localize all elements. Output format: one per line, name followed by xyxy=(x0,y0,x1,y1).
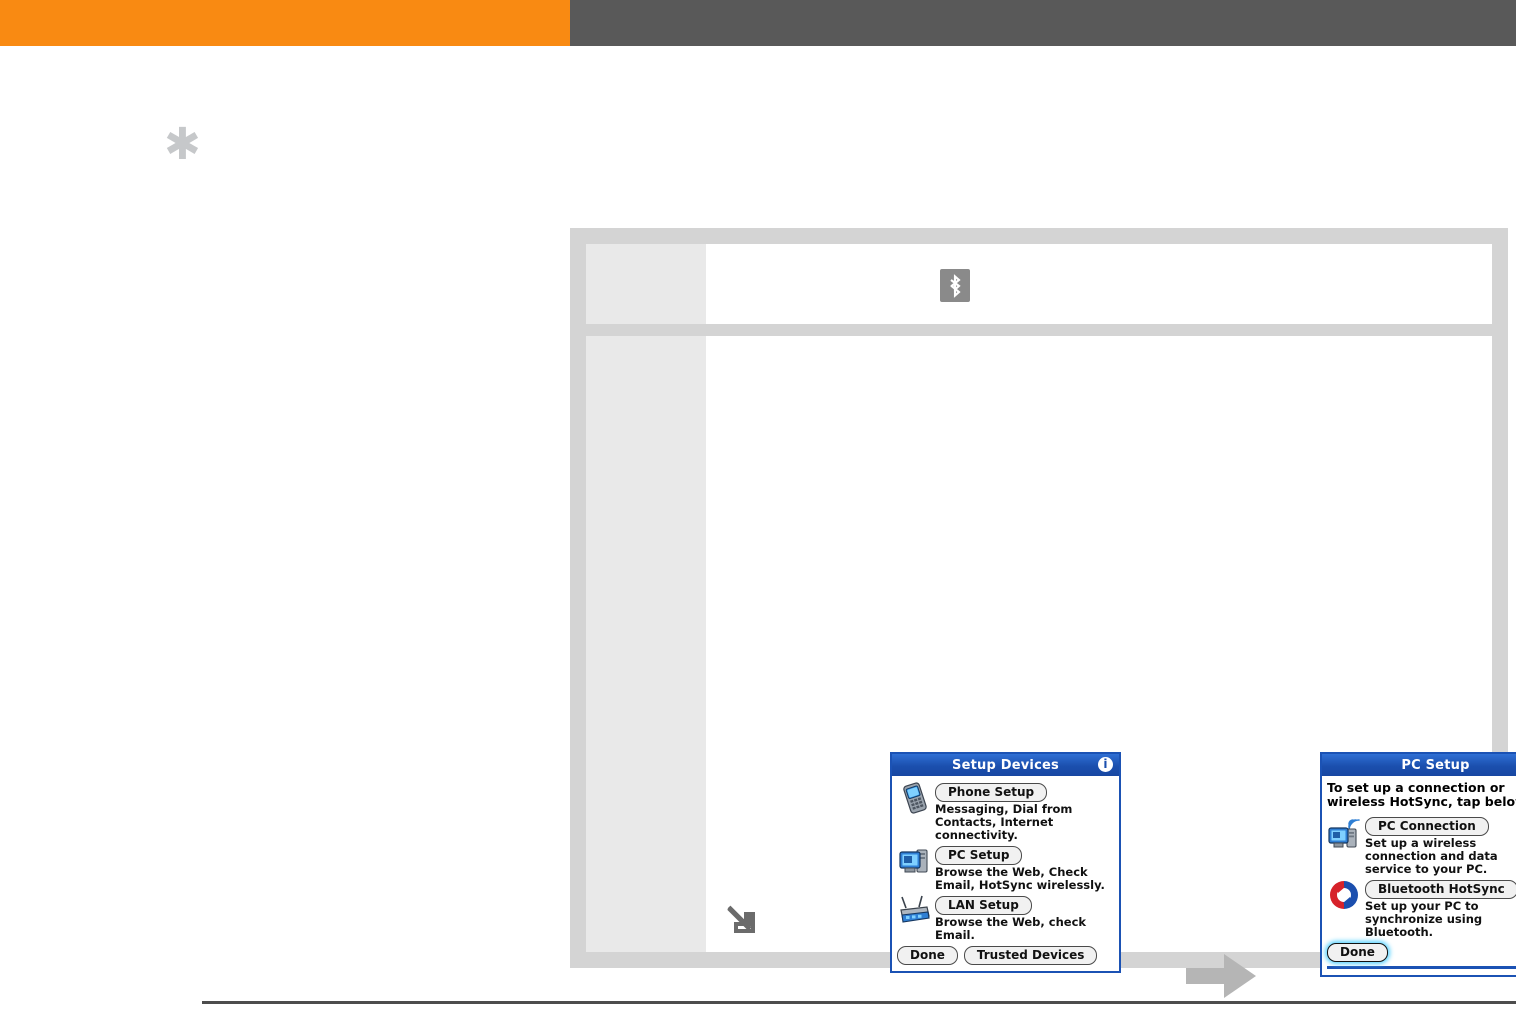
wireless-pc-icon xyxy=(1327,815,1365,849)
device-screenshot-pc-setup: PC Setup i To set up a connection or wir… xyxy=(1320,752,1516,977)
device-footer-buttons: Done Trusted Devices xyxy=(897,946,1114,965)
phone-setup-button[interactable]: Phone Setup xyxy=(935,783,1047,802)
device-body: Phone Setup Messaging, Dial from Contact… xyxy=(892,776,1119,971)
wifi-router-icon xyxy=(897,894,935,928)
page-root: ✱ Setup Devices xyxy=(0,0,1516,1010)
pc-connection-description: Set up a wireless connection and data se… xyxy=(1365,837,1516,876)
panel-row-bluetooth xyxy=(586,244,1492,324)
device-title-bar: PC Setup i xyxy=(1322,754,1516,776)
pcsetup-group-hotsync: Bluetooth HotSync Set up your PC to sync… xyxy=(1327,878,1516,939)
info-icon[interactable]: i xyxy=(1098,757,1113,772)
pc-setup-heading: To set up a connection or wireless HotSy… xyxy=(1327,781,1516,809)
panel-row-body-cell xyxy=(706,244,1492,324)
banner-orange-block xyxy=(0,0,570,46)
pc-setup-description: Browse the Web, Check Email, HotSync wir… xyxy=(935,866,1114,892)
setup-group-lan: LAN Setup Browse the Web, check Email. xyxy=(897,894,1114,942)
lan-setup-description: Browse the Web, check Email. xyxy=(935,916,1114,942)
panel-row-devices: Setup Devices i xyxy=(586,336,1492,952)
done-button[interactable]: Done xyxy=(1327,943,1388,962)
setup-group-phone-content: Phone Setup Messaging, Dial from Contact… xyxy=(935,781,1114,842)
bluetooth-hotsync-description: Set up your PC to synchronize using Blue… xyxy=(1365,900,1516,939)
device-screenshot-setup-devices: Setup Devices i xyxy=(890,752,1121,973)
hotsync-icon xyxy=(1327,878,1365,912)
setup-group-phone: Phone Setup Messaging, Dial from Contact… xyxy=(897,781,1114,842)
panel-row-label-cell xyxy=(586,244,706,324)
phone-setup-description: Messaging, Dial from Contacts, Internet … xyxy=(935,803,1114,842)
bluetooth-hotsync-button[interactable]: Bluetooth HotSync xyxy=(1365,880,1516,899)
mobile-phone-icon xyxy=(897,781,935,815)
pcsetup-group-hotsync-content: Bluetooth HotSync Set up your PC to sync… xyxy=(1365,878,1516,939)
down-right-arrow-icon xyxy=(722,898,762,938)
pcsetup-group-connection: PC Connection Set up a wireless connecti… xyxy=(1327,815,1516,876)
setup-group-lan-content: LAN Setup Browse the Web, check Email. xyxy=(935,894,1114,942)
setup-group-pc-content: PC Setup Browse the Web, Check Email, Ho… xyxy=(935,844,1114,892)
pc-setup-button[interactable]: PC Setup xyxy=(935,846,1022,865)
device-title-text: PC Setup xyxy=(1401,758,1469,773)
panel-row-label-cell xyxy=(586,336,706,952)
selection-underline xyxy=(1327,966,1516,969)
device-body: To set up a connection or wireless HotSy… xyxy=(1322,776,1516,975)
desktop-pc-icon xyxy=(897,844,935,878)
device-footer-buttons: Done xyxy=(1327,943,1516,962)
trusted-devices-button[interactable]: Trusted Devices xyxy=(964,946,1098,965)
bluetooth-icon xyxy=(940,269,970,302)
asterisk-tip-icon: ✱ xyxy=(164,129,196,163)
pcsetup-group-connection-content: PC Connection Set up a wireless connecti… xyxy=(1365,815,1516,876)
device-title-text: Setup Devices xyxy=(952,758,1059,773)
lan-setup-button[interactable]: LAN Setup xyxy=(935,896,1032,915)
content-panel: Setup Devices i xyxy=(570,228,1508,968)
device-title-bar: Setup Devices i xyxy=(892,754,1119,776)
footer-rule xyxy=(202,1001,1516,1004)
done-button[interactable]: Done xyxy=(897,946,958,965)
setup-group-pc: PC Setup Browse the Web, Check Email, Ho… xyxy=(897,844,1114,892)
panel-row-body-cell: Setup Devices i xyxy=(706,336,1492,952)
top-banner xyxy=(0,0,1516,46)
banner-gray-block xyxy=(570,0,1516,46)
right-arrow-icon xyxy=(1184,948,1260,1004)
pc-connection-button[interactable]: PC Connection xyxy=(1365,817,1489,836)
